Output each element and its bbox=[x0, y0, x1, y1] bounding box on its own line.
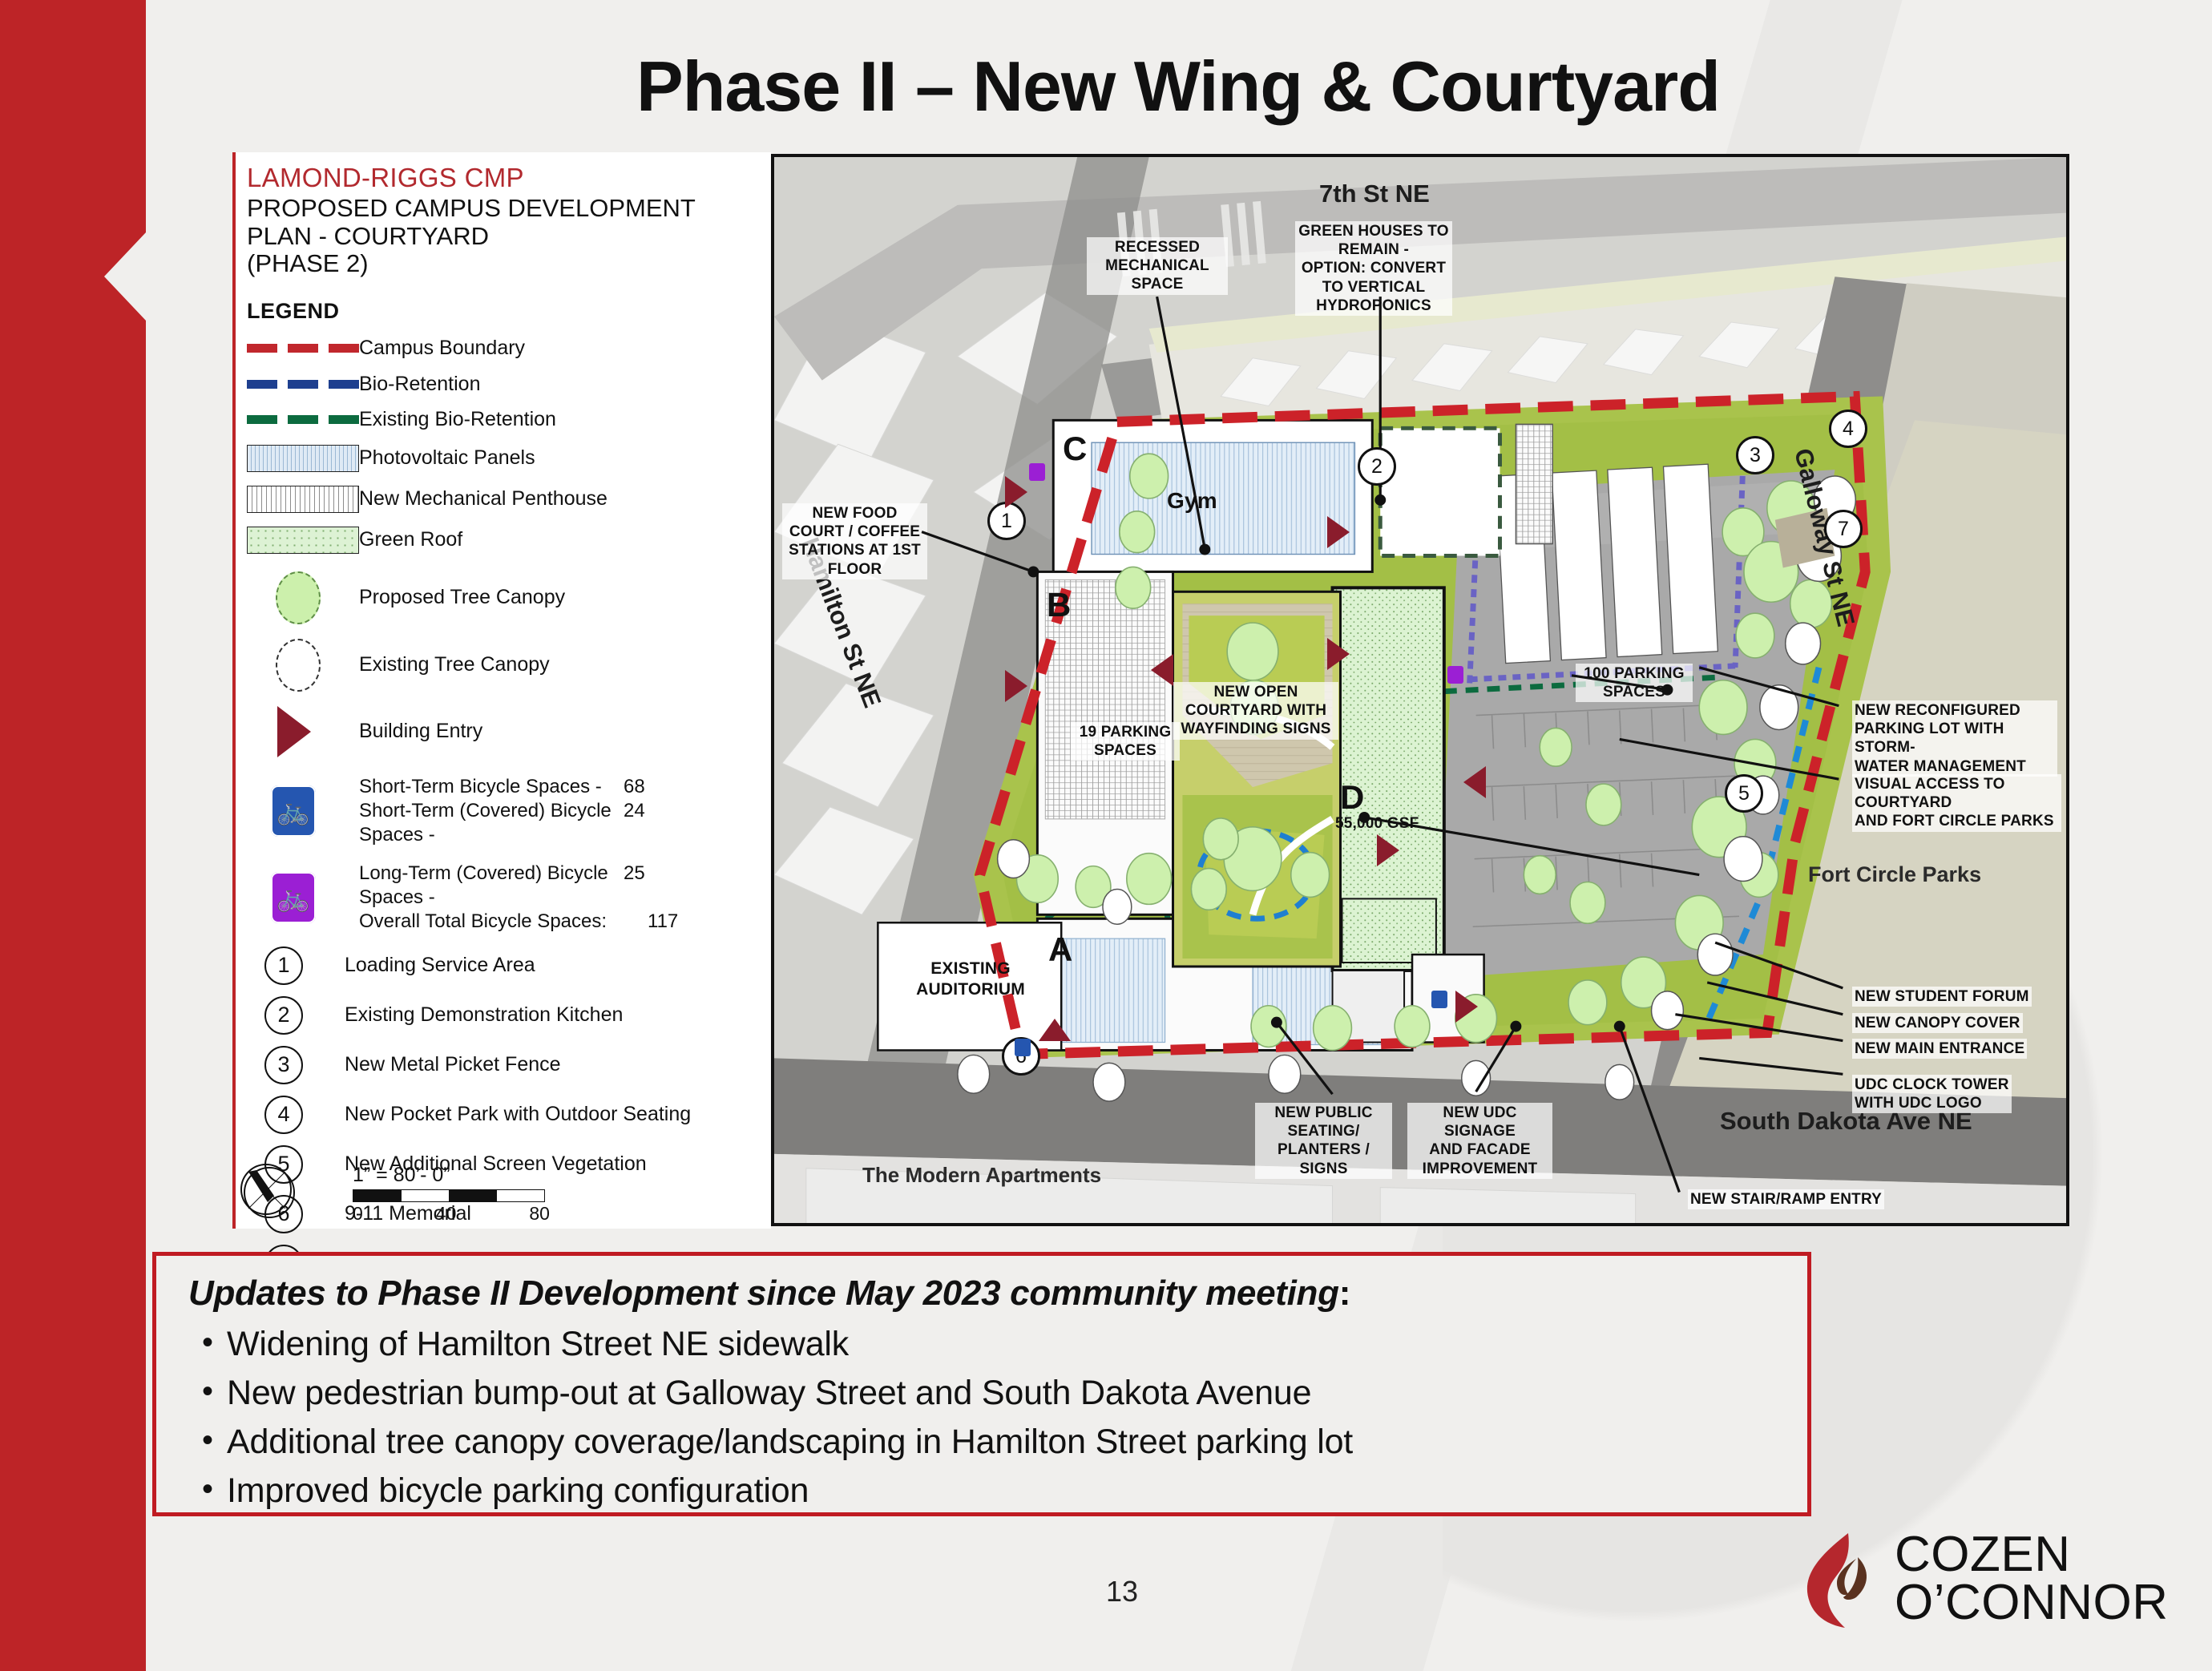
plan-title-line-1: PROPOSED CAMPUS DEVELOPMENT bbox=[247, 195, 771, 223]
map-marker-2[interactable]: 2 bbox=[1358, 447, 1396, 486]
long-term-bicycle-sign: 🚲 bbox=[247, 872, 359, 923]
numbered-item-4: 4 New Pocket Park with Outdoor Seating bbox=[247, 1096, 771, 1134]
building-entry-icon bbox=[1455, 991, 1478, 1023]
bullet-marker: • bbox=[188, 1424, 227, 1456]
campus-boundary-swatch bbox=[247, 344, 359, 353]
existing-tree-canopy-icon bbox=[247, 639, 359, 692]
logo-line-2: O’CONNOR bbox=[1895, 1579, 2169, 1627]
cozen-flame-icon bbox=[1795, 1527, 1883, 1631]
building-entry-icon bbox=[247, 706, 359, 757]
bicycle-icon bbox=[1029, 463, 1045, 481]
numbered-item-3: 3 New Metal Picket Fence bbox=[247, 1046, 771, 1084]
bike-label: Long-Term (Covered) Bicycle Spaces - bbox=[359, 862, 624, 910]
updates-heading-colon: : bbox=[1339, 1273, 1350, 1313]
legend-heading: LEGEND bbox=[247, 299, 771, 324]
bicycle-icon bbox=[1431, 991, 1447, 1008]
legend-item-existing-tree-canopy: Existing Tree Canopy bbox=[247, 639, 771, 692]
building-entry-icon bbox=[1005, 476, 1027, 508]
short-term-bicycle-sign: 🚲 bbox=[247, 785, 359, 837]
legend-label: Campus Boundary bbox=[359, 337, 525, 360]
plan-title-line-2: PLAN - COURTYARD bbox=[247, 223, 771, 251]
cozen-oconnor-logo: COZEN O’CONNOR bbox=[1795, 1511, 2172, 1647]
bicycle-icon bbox=[1015, 1039, 1031, 1056]
legend-label: Proposed Tree Canopy bbox=[359, 587, 565, 609]
scale-ratio-text: 1” = 80’- 0” bbox=[353, 1164, 553, 1187]
numbered-item-2: 2 Existing Demonstration Kitchen bbox=[247, 996, 771, 1035]
bike-value: 25 bbox=[624, 862, 645, 910]
building-entry-icon bbox=[1151, 654, 1173, 686]
bicycle-icon: 🚲 bbox=[271, 872, 316, 923]
updates-bullet-2: • New pedestrian bump-out at Galloway St… bbox=[188, 1375, 1775, 1411]
north-arrow-icon bbox=[239, 1162, 298, 1221]
updates-bullet-3: • Additional tree canopy coverage/landsc… bbox=[188, 1424, 1775, 1460]
map-marker-number: 3 bbox=[264, 1046, 303, 1084]
map-marker-number: 1 bbox=[264, 946, 303, 985]
legend-item-new-mechanical-penthouse: New Mechanical Penthouse bbox=[247, 486, 771, 513]
legend-item-bio-retention: Bio-Retention bbox=[247, 373, 771, 396]
legend-item-building-entry: Building Entry bbox=[247, 706, 771, 757]
page-title: Phase II – New Wing & Courtyard bbox=[417, 38, 1940, 135]
bullet-text: Widening of Hamilton Street NE sidewalk bbox=[227, 1326, 849, 1362]
numbered-item-label: Loading Service Area bbox=[345, 954, 535, 977]
building-entry-icon bbox=[1039, 1019, 1071, 1041]
bicycle-icon: 🚲 bbox=[271, 785, 316, 837]
bullet-marker: • bbox=[188, 1375, 227, 1407]
numbered-item-label: Existing Demonstration Kitchen bbox=[345, 1003, 623, 1027]
numbered-item-label: New Pocket Park with Outdoor Seating bbox=[345, 1103, 691, 1126]
updates-heading: Updates to Phase II Development since Ma… bbox=[188, 1273, 1775, 1314]
legend-item-long-term-bicycle: 🚲 Long-Term (Covered) Bicycle Spaces -25… bbox=[247, 862, 771, 934]
map-marker-4[interactable]: 4 bbox=[1829, 410, 1867, 448]
updates-heading-text: Updates to Phase II Development since Ma… bbox=[188, 1273, 1339, 1313]
legend-label: Building Entry bbox=[359, 720, 482, 743]
logo-wordmark: COZEN O’CONNOR bbox=[1895, 1531, 2169, 1627]
building-entry-icon bbox=[1463, 766, 1486, 798]
bullet-text: Additional tree canopy coverage/landscap… bbox=[227, 1424, 1353, 1460]
map-marker-3[interactable]: 3 bbox=[1736, 436, 1774, 474]
building-entry-icon bbox=[1327, 516, 1350, 548]
map-marker-number: 2 bbox=[264, 996, 303, 1035]
map-marker-5[interactable]: 5 bbox=[1725, 774, 1763, 813]
map-marker-7[interactable]: 7 bbox=[1824, 510, 1863, 548]
legend-label: Existing Bio-Retention bbox=[359, 409, 556, 431]
bike-value: 117 bbox=[648, 910, 678, 934]
cmp-name: LAMOND-RIGGS CMP bbox=[247, 163, 771, 193]
legend-label: Existing Tree Canopy bbox=[359, 654, 550, 676]
numbered-item-1: 1 Loading Service Area bbox=[247, 946, 771, 985]
numbered-item-label: New Metal Picket Fence bbox=[345, 1053, 561, 1076]
map-marker-number: 4 bbox=[264, 1096, 303, 1134]
bullet-marker: • bbox=[188, 1473, 227, 1505]
page-number: 13 bbox=[1058, 1575, 1186, 1608]
logo-line-1: COZEN bbox=[1895, 1531, 2169, 1579]
bike-value: 24 bbox=[624, 799, 645, 847]
legend-label: Bio-Retention bbox=[359, 373, 480, 396]
scale-bar-graphic bbox=[353, 1189, 545, 1202]
scale-tick: 40 bbox=[436, 1203, 457, 1225]
updates-callout-box: Updates to Phase II Development since Ma… bbox=[152, 1252, 1811, 1516]
existing-bio-retention-swatch bbox=[247, 415, 359, 424]
scale-tick: 80 bbox=[529, 1203, 550, 1225]
bicycle-icon bbox=[1447, 666, 1463, 684]
legend-item-existing-bio-retention: Existing Bio-Retention bbox=[247, 409, 771, 431]
legend-panel: LAMOND-RIGGS CMP PROPOSED CAMPUS DEVELOP… bbox=[232, 152, 771, 1229]
building-entry-icon bbox=[1005, 670, 1027, 702]
legend-item-green-roof: Green Roof bbox=[247, 527, 771, 554]
scale-tick-labels: 0 40 80 bbox=[353, 1203, 550, 1225]
bike-label: Overall Total Bicycle Spaces: bbox=[359, 910, 624, 934]
bullet-text: Improved bicycle parking configuration bbox=[227, 1473, 809, 1509]
bike-label: Short-Term (Covered) Bicycle Spaces - bbox=[359, 799, 624, 847]
site-plan-map[interactable]: 7th St NE Galloway St NE Hamilton St NE … bbox=[771, 154, 2069, 1226]
plan-title-line-3: (PHASE 2) bbox=[247, 250, 771, 278]
bike-value: 68 bbox=[624, 775, 645, 799]
callout-leader-lines bbox=[774, 157, 2066, 1224]
bullet-marker: • bbox=[188, 1326, 227, 1358]
legend-item-short-term-bicycle: 🚲 Short-Term Bicycle Spaces -68 Short-Te… bbox=[247, 775, 771, 847]
short-term-bicycle-text: Short-Term Bicycle Spaces -68 Short-Term… bbox=[359, 775, 645, 847]
long-term-bicycle-text: Long-Term (Covered) Bicycle Spaces -25 O… bbox=[359, 862, 678, 934]
bullet-text: New pedestrian bump-out at Galloway Stre… bbox=[227, 1375, 1311, 1411]
bio-retention-swatch bbox=[247, 380, 359, 389]
legend-item-campus-boundary: Campus Boundary bbox=[247, 337, 771, 360]
photovoltaic-swatch bbox=[247, 445, 359, 472]
numbered-legend-list: 1 Loading Service Area 2 Existing Demons… bbox=[247, 946, 771, 1283]
legend-item-photovoltaic-panels: Photovoltaic Panels bbox=[247, 445, 771, 472]
plan-title: PROPOSED CAMPUS DEVELOPMENT PLAN - COURT… bbox=[247, 195, 771, 278]
left-red-accent-bar bbox=[0, 0, 146, 1671]
scale-bar: 1” = 80’- 0” 0 40 80 bbox=[353, 1164, 553, 1225]
updates-bullet-1: • Widening of Hamilton Street NE sidewal… bbox=[188, 1326, 1775, 1362]
legend-label: Photovoltaic Panels bbox=[359, 447, 535, 470]
updates-bullet-4: • Improved bicycle parking configuration bbox=[188, 1473, 1775, 1509]
building-entry-icon bbox=[1327, 638, 1350, 670]
building-entry-icon bbox=[1377, 834, 1399, 866]
scale-tick: 0 bbox=[353, 1203, 363, 1225]
green-roof-swatch bbox=[247, 527, 359, 554]
legend-item-proposed-tree-canopy: Proposed Tree Canopy bbox=[247, 571, 771, 624]
legend-label: Green Roof bbox=[359, 529, 462, 551]
proposed-tree-canopy-icon bbox=[247, 571, 359, 624]
mechanical-penthouse-swatch bbox=[247, 486, 359, 513]
bike-label: Short-Term Bicycle Spaces - bbox=[359, 775, 624, 799]
legend-label: New Mechanical Penthouse bbox=[359, 488, 607, 511]
